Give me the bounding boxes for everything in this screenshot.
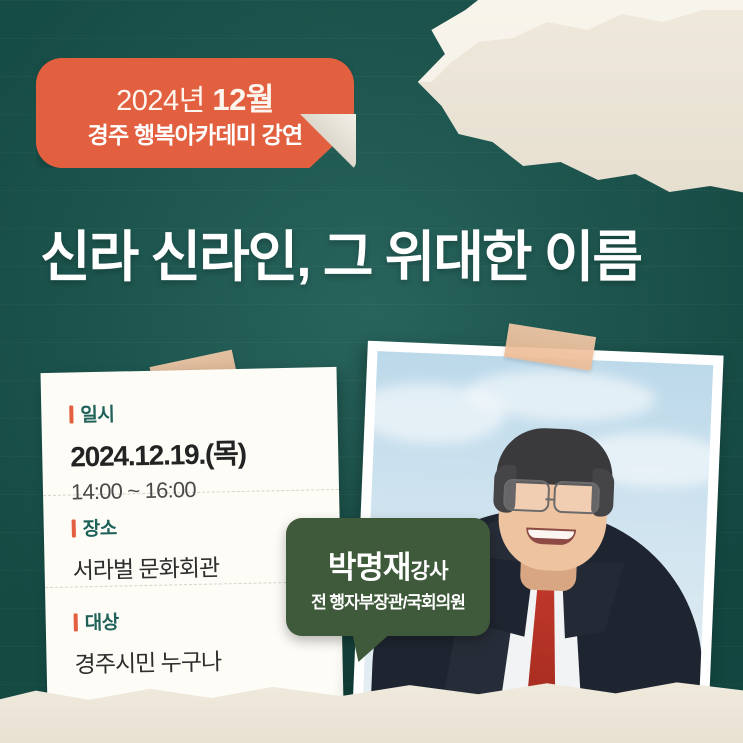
ribbon-year-text: 2024년 (116, 85, 212, 117)
info-value-target: 경주시민 누구나 (74, 642, 221, 679)
glasses-icon (503, 479, 550, 513)
poster-root: 2024년 12월 경주 행복아카데미 강연 신라 신라인, 그 위대한 이름 … (0, 0, 743, 743)
info-label-target-text: 대상 (84, 608, 119, 636)
info-value-date: 2024.12.19.(목) (70, 432, 246, 476)
info-label-place-text: 장소 (82, 514, 117, 542)
speaker-name-suffix: 강사 (410, 560, 448, 583)
bullet-bar-icon (72, 519, 76, 537)
info-block-target: 대상 경주시민 누구나 (73, 605, 221, 679)
speaker-name-text: 박명재 (328, 550, 411, 585)
info-block-place: 장소 서라벌 문화회관 (71, 511, 219, 585)
bullet-bar-icon (69, 405, 73, 423)
glasses-bridge (545, 498, 555, 500)
speaker-role-text: 전 행자부장관/국회의원 (286, 588, 490, 613)
page-title: 신라 신라인, 그 위대한 이름 (40, 212, 720, 292)
ribbon-badge: 2024년 12월 경주 행복아카데미 강연 (36, 58, 354, 168)
speaker-name-bubble: 박명재강사 전 행자부장관/국회의원 (286, 518, 490, 636)
info-label-date: 일시 (69, 397, 245, 428)
info-label-place: 장소 (71, 511, 218, 541)
ribbon-subtitle-text: 경주 행복아카데미 강연 (36, 116, 354, 150)
info-label-date-text: 일시 (80, 400, 115, 428)
ribbon-month-text: 12월 (212, 82, 274, 117)
info-value-time: 14:00 ~ 16:00 (71, 476, 247, 506)
bullet-bar-icon (74, 613, 78, 631)
ribbon-date-line: 2024년 12월 (36, 74, 354, 119)
speaker-name-line: 박명재강사 (286, 542, 490, 587)
info-label-target: 대상 (73, 605, 220, 635)
info-value-place: 서라벌 문화회관 (72, 548, 219, 585)
glasses-icon (553, 481, 600, 515)
info-block-date: 일시 2024.12.19.(목) 14:00 ~ 16:00 (69, 397, 247, 506)
